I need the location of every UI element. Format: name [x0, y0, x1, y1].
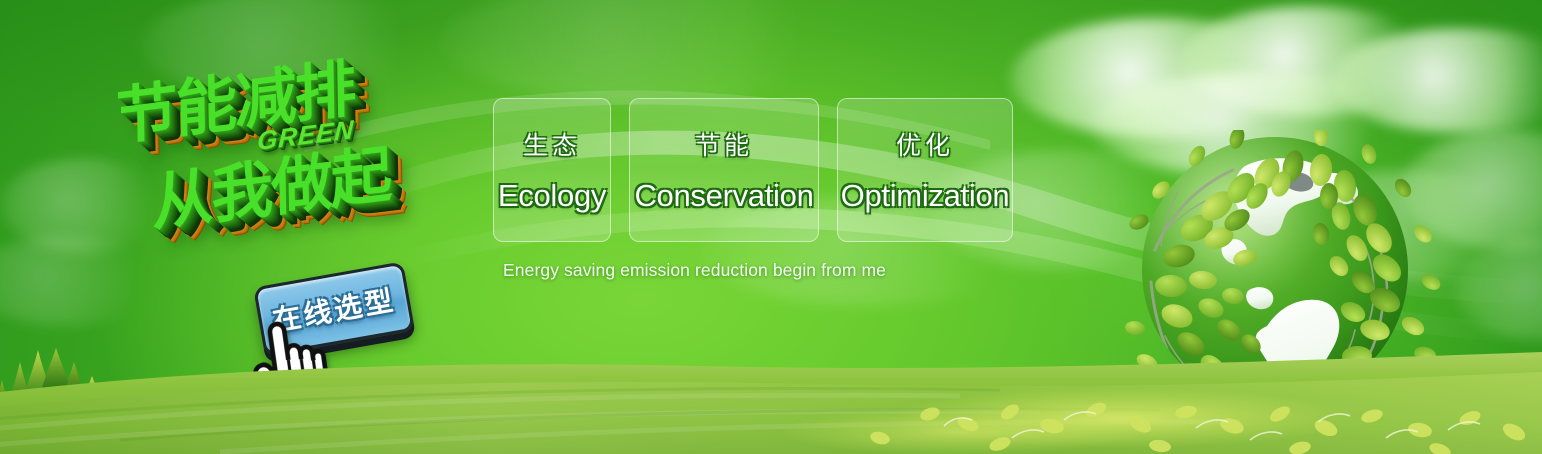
- feature-card-ecology-cn: 生态: [523, 126, 581, 162]
- feature-card-optimization[interactable]: 优化 Optimization: [837, 98, 1013, 242]
- feature-card-conservation-cn: 节能: [695, 126, 753, 162]
- headline-3d-artwork: 节能减排 GREEN 从我做起: [105, 42, 480, 267]
- feature-card-row: 生态 Ecology 节能 Conservation 优化 Optimizati…: [493, 98, 1013, 242]
- grass-field: [0, 334, 1542, 454]
- feature-card-conservation[interactable]: 节能 Conservation: [629, 98, 819, 242]
- feature-card-ecology-en: Ecology: [498, 178, 606, 214]
- feature-card-optimization-en: Optimization: [841, 178, 1010, 214]
- tagline-text: Energy saving emission reduction begin f…: [503, 260, 886, 281]
- feature-card-optimization-cn: 优化: [896, 126, 954, 162]
- eco-promo-banner: 节能减排 GREEN 从我做起 在线选型 生态 Ecology 节能 Conse…: [0, 0, 1542, 454]
- feature-card-ecology[interactable]: 生态 Ecology: [493, 98, 611, 242]
- feature-card-conservation-en: Conservation: [634, 178, 813, 214]
